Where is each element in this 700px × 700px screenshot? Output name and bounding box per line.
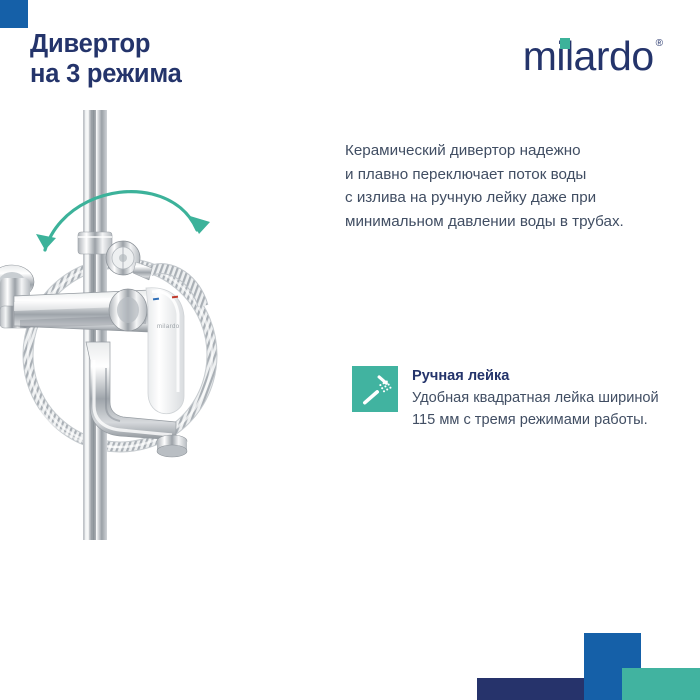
product-image: milardo [0,110,240,540]
svg-text:milardo: milardo [157,324,180,330]
corner-accent-square [0,0,28,28]
feature-text: Ручная лейка Удобная квадратная лейка ши… [412,366,659,431]
feature-description: Удобная квадратная лейка шириной 115 мм … [412,388,659,431]
brand-logo: milardo ® [523,35,663,77]
decor-square-teal [622,668,700,700]
logo-wordmark: milardo [523,35,654,77]
feature-block-hand-shower: Ручная лейка Удобная квадратная лейка ши… [352,366,677,431]
registered-trademark-icon: ® [656,39,663,49]
product-feature-banner: Дивертор на 3 режима milardo ® Керамичес… [0,0,700,700]
page-title: Дивертор на 3 режима [30,29,330,89]
logo-accent-dot-icon [560,38,570,49]
feature-title: Ручная лейка [412,367,659,386]
lead-paragraph: Керамический дивертор надежно и плавно п… [345,139,675,233]
hand-shower-icon [352,366,398,412]
